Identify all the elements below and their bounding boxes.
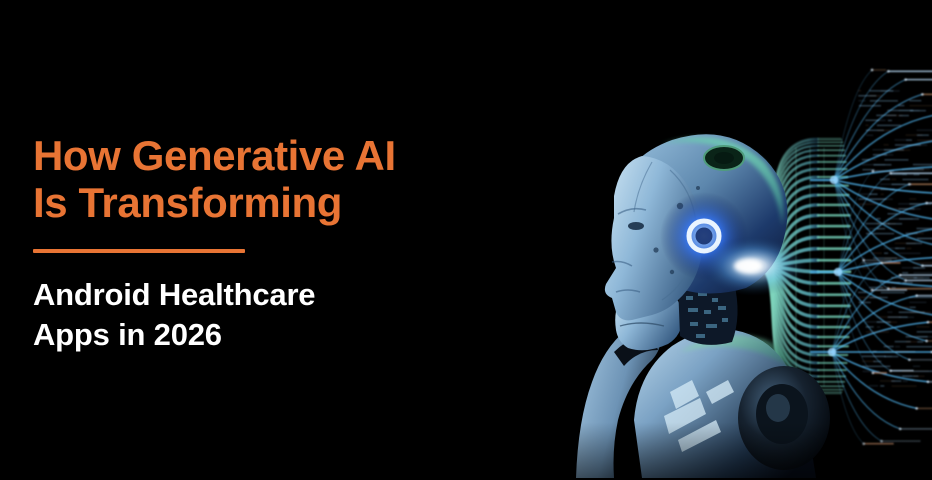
neural-micro-filament	[862, 267, 869, 269]
neural-micro-filament	[914, 174, 920, 176]
neural-micro-filament	[906, 144, 927, 146]
headline-line-1: How Generative AI	[33, 132, 503, 179]
neural-micro-filament	[913, 164, 932, 166]
neural-micro-filament	[913, 371, 932, 373]
subhead-line-2: Apps in 2026	[33, 315, 503, 355]
neural-micro-filament	[881, 90, 900, 92]
neural-tip-cool	[906, 79, 932, 81]
neural-micro-filament	[862, 361, 875, 363]
light-burst-core	[734, 259, 762, 273]
neural-tip-warm	[864, 443, 894, 445]
neural-tip-cool	[888, 70, 932, 72]
neural-micro-filament	[913, 169, 930, 171]
neural-node-dot	[899, 427, 902, 430]
neural-node-dot	[925, 340, 928, 343]
neural-micro-filament	[862, 366, 890, 368]
neural-micro-filament	[870, 100, 898, 102]
neural-tip-warm	[917, 407, 932, 409]
neural-micro-filament	[869, 292, 872, 294]
neural-micro-filament	[914, 277, 930, 279]
neural-tip-warm	[873, 372, 887, 374]
page-title: How Generative AI Is Transforming	[33, 132, 503, 227]
robot-crown-port-inner	[714, 152, 734, 164]
neural-micro-filament	[859, 100, 866, 102]
neural-micro-filament	[859, 203, 876, 205]
neural-micro-filament	[870, 198, 893, 200]
neural-micro-filament	[877, 120, 886, 122]
neural-micro-filament	[892, 385, 917, 387]
neural-micro-filament	[888, 321, 897, 323]
neural-micro-filament	[899, 213, 904, 215]
neural-micro-filament	[887, 311, 892, 313]
neural-micro-filament	[866, 326, 874, 328]
neural-micro-filament	[902, 174, 913, 176]
neural-micro-filament	[873, 361, 881, 363]
neural-tip-cool	[906, 279, 932, 281]
neural-micro-filament	[863, 371, 880, 373]
neural-micro-filament	[895, 248, 905, 250]
neural-micro-filament	[892, 184, 912, 186]
neural-micro-filament	[891, 179, 896, 181]
neural-node-dot	[915, 407, 918, 410]
neural-node-dot	[871, 289, 874, 292]
neural-micro-filament	[906, 346, 932, 348]
neural-micro-filament	[870, 297, 888, 299]
neural-micro-filament	[877, 218, 881, 220]
neural-micro-filament	[859, 105, 881, 107]
neural-micro-filament	[913, 262, 932, 264]
neural-tip-warm	[922, 93, 932, 95]
neural-micro-filament	[877, 130, 890, 132]
neural-micro-filament	[888, 213, 898, 215]
robot-shoulder-joint-core	[766, 394, 790, 422]
neural-micro-filament	[917, 238, 932, 240]
neural-micro-filament	[913, 267, 925, 269]
neural-node-dot	[862, 259, 865, 262]
neural-tip-cool	[872, 289, 907, 291]
neural-tip-cool	[922, 265, 932, 267]
neural-micro-filament	[895, 149, 910, 151]
neural-node-dot	[927, 380, 930, 383]
neural-micro-filament	[906, 248, 911, 250]
neural-micro-filament	[916, 326, 929, 328]
neural-micro-filament	[917, 139, 932, 141]
neural-micro-filament	[909, 100, 921, 102]
neural-micro-filament	[892, 287, 896, 289]
neural-micro-filament	[858, 193, 871, 195]
neural-micro-filament	[866, 228, 879, 230]
neural-tip-cool	[909, 359, 932, 361]
neural-micro-filament	[906, 139, 912, 141]
neural-micro-filament	[888, 223, 902, 225]
neural-micro-filament	[862, 257, 865, 259]
neural-micro-filament	[880, 385, 884, 387]
neural-micro-filament	[891, 380, 901, 382]
neural-micro-filament	[866, 135, 873, 137]
neural-node-dot	[921, 264, 924, 267]
subhead-line-1: Android Healthcare	[33, 275, 503, 315]
neural-node-dot	[862, 442, 865, 445]
neural-micro-filament	[909, 302, 926, 304]
neural-micro-filament	[895, 346, 900, 348]
neural-micro-filament	[870, 193, 878, 195]
neural-node-dot	[871, 69, 874, 72]
neural-micro-filament	[906, 243, 922, 245]
neural-node-dot	[927, 321, 930, 324]
neural-tip-cool	[864, 259, 892, 261]
neural-micro-filament	[910, 110, 926, 112]
neural-micro-filament	[910, 307, 916, 309]
neural-micro-filament	[898, 306, 909, 308]
neural-tip-cool	[900, 274, 932, 276]
neural-micro-filament	[859, 302, 871, 304]
headline-line-2: Is Transforming	[33, 179, 503, 226]
robot-eye	[628, 222, 644, 230]
neural-micro-filament	[881, 194, 884, 196]
page-subtitle: Android Healthcare Apps in 2026	[33, 275, 503, 356]
neural-node-dot	[880, 440, 883, 443]
neural-micro-filament	[917, 228, 932, 230]
neural-junction	[834, 268, 842, 276]
neural-micro-filament	[899, 218, 919, 220]
neural-micro-filament	[874, 164, 892, 166]
neural-micro-filament	[917, 129, 932, 131]
neural-micro-filament	[858, 90, 861, 92]
neural-micro-filament	[899, 115, 909, 117]
neural-micro-filament	[910, 105, 932, 107]
neural-micro-filament	[870, 95, 883, 97]
text-block: How Generative AI Is Transforming Androi…	[33, 132, 503, 356]
neural-junction	[830, 176, 838, 184]
title-divider	[33, 249, 245, 253]
neural-micro-filament	[873, 262, 886, 264]
neural-tip-cool	[873, 170, 894, 172]
neural-micro-filament	[895, 139, 906, 141]
neural-tip-cool	[900, 428, 932, 430]
neural-micro-filament	[903, 282, 913, 284]
neural-micro-filament	[877, 228, 885, 230]
neural-micro-filament	[903, 179, 929, 181]
neural-node-dot	[904, 78, 907, 81]
neural-micro-filament	[906, 233, 918, 235]
neural-micro-filament	[917, 331, 932, 333]
neural-micro-filament	[862, 159, 870, 161]
robot-illustration	[466, 0, 932, 480]
neural-micro-filament	[895, 351, 915, 353]
neural-node-dot	[908, 358, 911, 361]
neural-micro-filament	[917, 134, 929, 136]
neural-node-dot	[904, 279, 907, 282]
neural-tip-warm	[872, 69, 886, 71]
neural-node-dot	[921, 93, 924, 96]
neural-micro-filament	[917, 233, 924, 235]
neural-micro-filament	[895, 238, 901, 240]
neural-micro-filament	[903, 380, 908, 382]
neural-micro-filament	[866, 125, 869, 127]
neural-micro-filament	[914, 376, 925, 378]
neural-micro-filament	[898, 105, 904, 107]
banner-root: How Generative AI Is Transforming Androi…	[0, 0, 932, 480]
neural-micro-filament	[884, 356, 898, 358]
neural-micro-filament	[873, 252, 882, 254]
neural-micro-filament	[902, 272, 908, 274]
neural-micro-filament	[899, 317, 914, 319]
neural-tip-warm	[909, 183, 932, 185]
neural-tip-cool	[882, 440, 921, 442]
neural-micro-filament	[906, 341, 917, 343]
neural-micro-filament	[913, 366, 920, 368]
neural-micro-filament	[895, 253, 920, 255]
neural-micro-filament	[910, 203, 932, 205]
neural-micro-filament	[892, 189, 901, 191]
neural-micro-filament	[880, 179, 890, 181]
neural-micro-filament	[917, 341, 923, 343]
neural-junction	[828, 348, 836, 356]
neural-node-dot	[889, 369, 892, 372]
neural-micro-filament	[884, 346, 894, 348]
neural-micro-filament	[869, 385, 878, 387]
neural-micro-filament	[910, 312, 931, 314]
neural-micro-filament	[884, 144, 889, 146]
temple-ring-inner	[696, 228, 713, 245]
neural-micro-filament	[885, 159, 909, 161]
neural-micro-filament	[909, 297, 932, 299]
neural-micro-filament	[866, 233, 894, 235]
neural-micro-filament	[880, 287, 889, 289]
neural-micro-filament	[884, 252, 888, 254]
neural-micro-filament	[910, 208, 921, 210]
neural-micro-filament	[888, 120, 892, 122]
neural-node-dot	[899, 274, 902, 277]
neural-micro-filament	[881, 292, 905, 294]
neural-tip-cool	[917, 295, 932, 297]
neural-micro-filament	[873, 351, 877, 353]
neural-micro-filament	[877, 326, 880, 328]
neural-node-dot	[887, 70, 890, 73]
neural-micro-filament	[873, 159, 876, 161]
neural-micro-filament	[884, 257, 903, 259]
neural-micro-filament	[917, 336, 932, 338]
neural-micro-filament	[858, 292, 866, 294]
neural-micro-filament	[909, 198, 916, 200]
neural-micro-filament	[863, 169, 875, 171]
neural-micro-filament	[913, 272, 932, 274]
neural-micro-filament	[884, 154, 893, 156]
neural-micro-filament	[877, 125, 901, 127]
neural-micro-filament	[866, 331, 889, 333]
